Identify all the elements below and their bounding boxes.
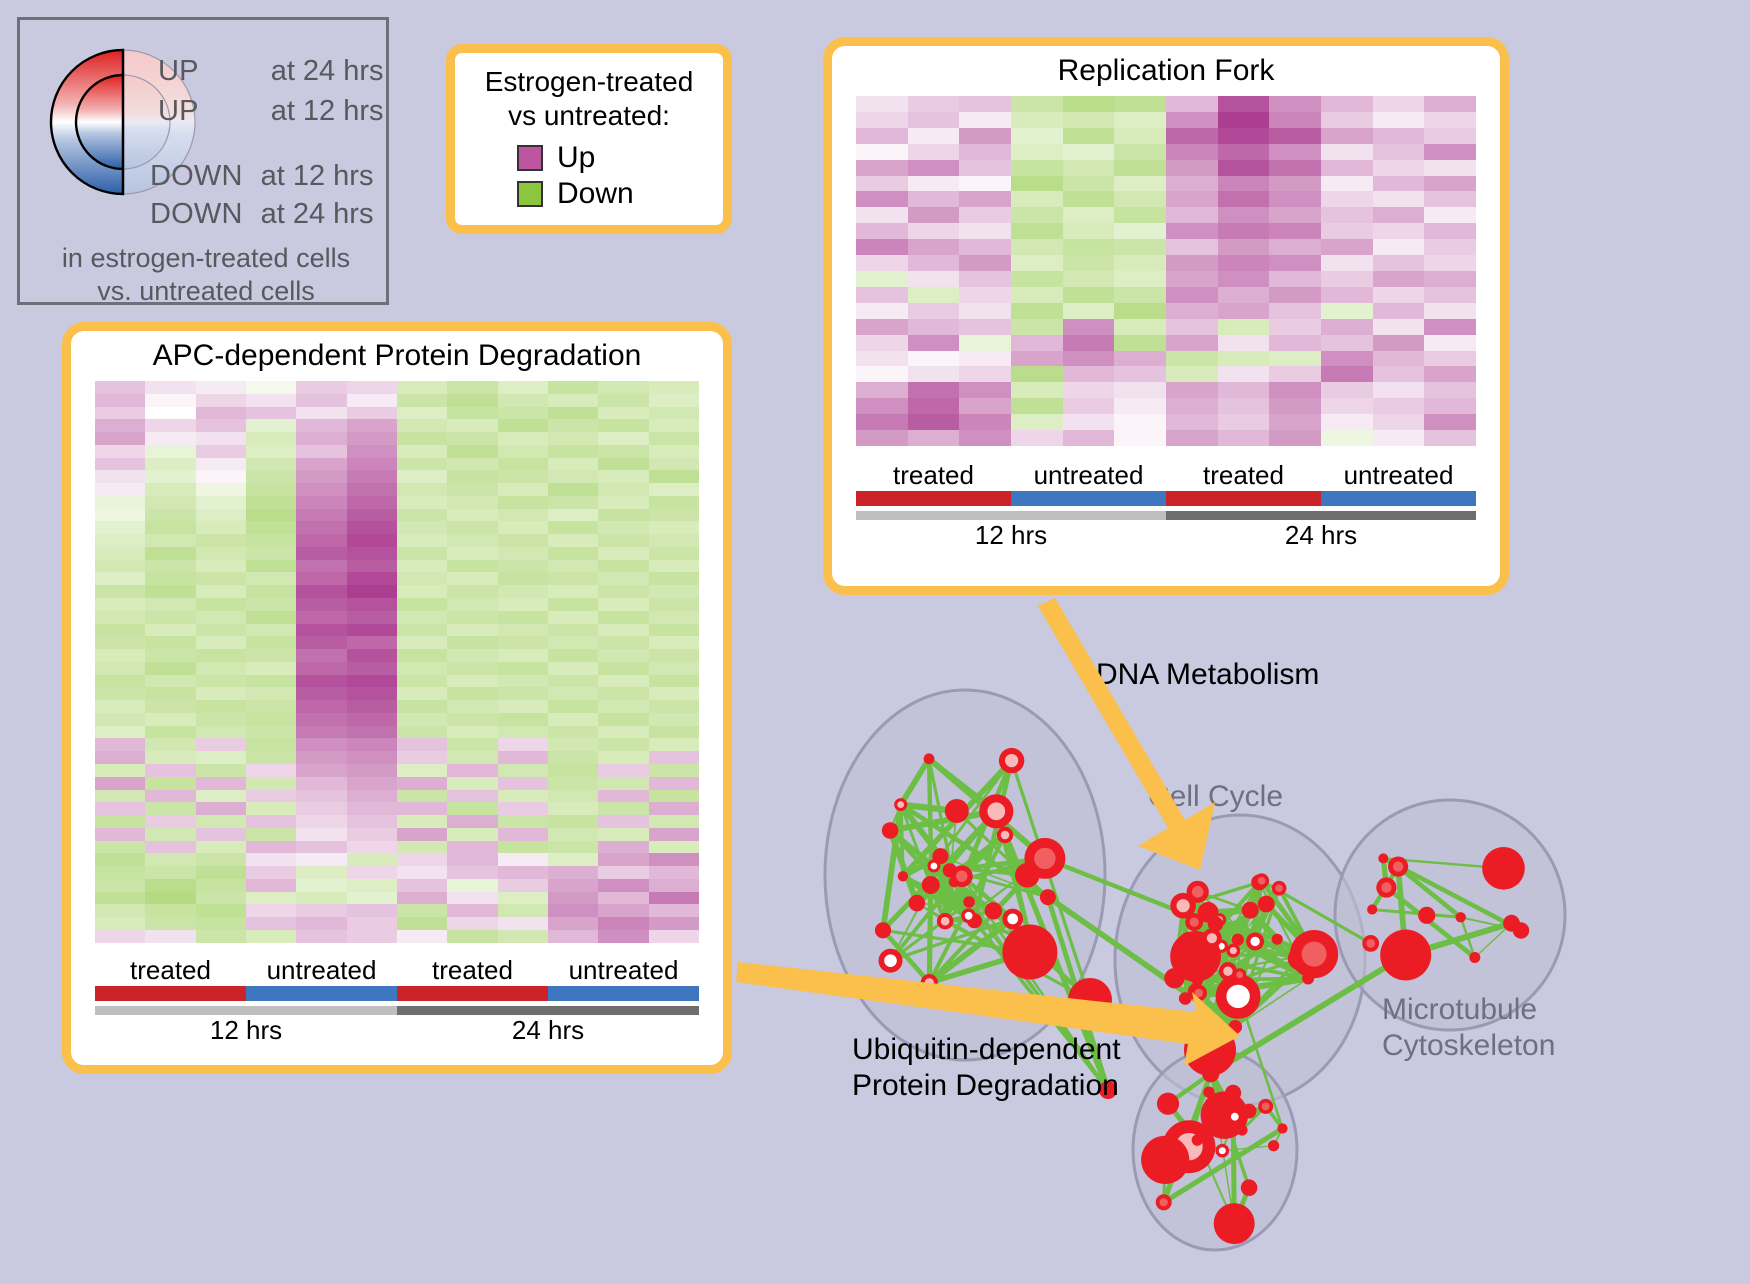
heatmap-cell	[196, 917, 246, 930]
heatmap-cell	[598, 470, 648, 483]
network-node[interactable]	[945, 799, 969, 823]
heatmap-cell	[1269, 319, 1321, 335]
heatmap-cell	[598, 572, 648, 585]
heatmap-cell	[95, 611, 145, 624]
network-node[interactable]	[1002, 925, 1057, 980]
network-node[interactable]	[1380, 930, 1431, 981]
heatmap-cell	[296, 930, 346, 943]
heatmap-cell	[246, 547, 296, 560]
network-node[interactable]	[1040, 889, 1056, 905]
down-swatch-icon	[517, 181, 543, 207]
heatmap-row	[95, 419, 699, 432]
network-node[interactable]	[1203, 1087, 1214, 1098]
network-node[interactable]	[1192, 1134, 1203, 1145]
network-node[interactable]	[1268, 1140, 1279, 1151]
node-inner-fill	[1226, 985, 1249, 1008]
heatmap-cell	[1011, 366, 1063, 382]
panel-replication-fork: Replication Fork treateduntreatedtreated…	[823, 37, 1509, 595]
heatmap-cell	[246, 636, 296, 649]
heatmap-cell	[959, 112, 1011, 128]
network-node[interactable]	[898, 871, 908, 881]
heatmap-cell	[649, 879, 699, 892]
heatmap-cell	[145, 917, 195, 930]
heatmap-cell	[1321, 144, 1373, 160]
heatmap-cell	[397, 700, 447, 713]
heatmap-cell	[246, 828, 296, 841]
heatmap-cell	[296, 764, 346, 777]
heatmap-cell	[397, 930, 447, 943]
heatmap-cell	[397, 458, 447, 471]
network-node[interactable]	[1290, 930, 1338, 978]
network-node[interactable]	[979, 794, 1013, 828]
heatmap-cell	[196, 483, 246, 496]
heatmap-cell	[1321, 366, 1373, 382]
heatmap-cell	[1269, 128, 1321, 144]
heatmap-cell	[1114, 160, 1166, 176]
network-node[interactable]	[1367, 904, 1377, 914]
network-node[interactable]	[1272, 934, 1283, 945]
network-node[interactable]	[882, 822, 899, 839]
heatmap-cell	[856, 144, 908, 160]
heatmap-cell	[95, 866, 145, 879]
heatmap-cell	[196, 930, 246, 943]
heatmap-cell	[246, 611, 296, 624]
heatmap-cell	[548, 585, 598, 598]
heatmap-cell	[548, 917, 598, 930]
heatmap-cell	[598, 917, 648, 930]
heatmap-cell	[598, 853, 648, 866]
heatmap-cell	[397, 777, 447, 790]
network-node[interactable]	[1227, 1109, 1242, 1124]
network-node[interactable]	[1254, 873, 1269, 888]
ubiquitin-line-1: Ubiquitin-dependent	[852, 1032, 1121, 1068]
network-node[interactable]	[1237, 1125, 1248, 1136]
heatmap-row	[856, 303, 1476, 319]
heatmap-cell	[1166, 271, 1218, 287]
heatmap-cell	[1011, 398, 1063, 414]
heatmap-cell	[246, 509, 296, 522]
heatmap-cell	[1373, 414, 1425, 430]
heatmap-cell	[649, 534, 699, 547]
group-color-segment	[548, 986, 699, 1001]
heatmap-cell	[447, 892, 497, 905]
time-color-segment	[1166, 511, 1476, 520]
heatmap-cell	[908, 144, 960, 160]
heatmap-cell	[246, 726, 296, 739]
heatmap-cell	[196, 432, 246, 445]
heatmap-cell	[498, 879, 548, 892]
heatmap-cell	[1269, 303, 1321, 319]
network-node[interactable]	[1156, 1194, 1172, 1210]
heatmap-cell	[95, 841, 145, 854]
heatmap-row	[856, 96, 1476, 112]
group-color-segment	[397, 986, 548, 1001]
network-node[interactable]	[1226, 944, 1240, 958]
heatmap-cell	[1321, 382, 1373, 398]
colorwheel-caption: in estrogen-treated cells vs. untreated …	[20, 242, 392, 308]
network-node[interactable]	[1214, 1203, 1255, 1244]
heatmap-cell	[498, 394, 548, 407]
heatmap-cell	[95, 777, 145, 790]
heatmap-cell	[347, 445, 397, 458]
heatmap-cell	[548, 700, 598, 713]
network-node[interactable]	[1378, 853, 1388, 863]
node-inner-fill	[1160, 1198, 1168, 1206]
network-node[interactable]	[1272, 881, 1287, 896]
network-node[interactable]	[1242, 902, 1259, 919]
network-node[interactable]	[1216, 1144, 1230, 1158]
wheel-time-label: at 24 hrs	[271, 55, 384, 88]
heatmap-cell	[856, 191, 908, 207]
heatmap-cell	[1166, 319, 1218, 335]
network-node[interactable]	[963, 896, 975, 908]
heatmap-cell	[95, 713, 145, 726]
heatmap-cell	[908, 398, 960, 414]
heatmap-cell	[1063, 319, 1115, 335]
heatmap-cell	[649, 675, 699, 688]
heatmap-cell	[959, 319, 1011, 335]
heatmap-cell	[498, 764, 548, 777]
network-node[interactable]	[1228, 1020, 1242, 1034]
heatmap-cell	[649, 611, 699, 624]
network-node[interactable]	[1242, 1104, 1257, 1119]
heatmap-cell	[1166, 176, 1218, 192]
heatmap-cell	[447, 815, 497, 828]
heatmap-row	[95, 547, 699, 560]
wheel-row-up-24: UP at 24 hrs	[158, 55, 384, 88]
cluster-label-cell-cycle: Cell Cycle	[1148, 780, 1283, 814]
heatmap-cell	[856, 351, 908, 367]
heatmap-cell	[397, 764, 447, 777]
heatmap-cell	[1373, 351, 1425, 367]
heatmap-cell	[447, 432, 497, 445]
heatmap-cell	[856, 112, 908, 128]
network-node[interactable]	[1418, 907, 1435, 924]
heatmap-cell	[196, 572, 246, 585]
heatmap-cell	[649, 509, 699, 522]
heatmap-row	[95, 790, 699, 803]
heatmap-cell	[347, 828, 397, 841]
node-inner-fill	[1034, 848, 1055, 869]
heatmap-cell	[1373, 239, 1425, 255]
network-node[interactable]	[1233, 968, 1246, 981]
heatmap-cell	[347, 458, 397, 471]
heatmap-cell	[959, 239, 1011, 255]
network-node[interactable]	[1362, 935, 1379, 952]
heatmap-cell	[95, 534, 145, 547]
legend-title-line-2: vs untreated:	[455, 99, 723, 133]
network-node[interactable]	[961, 908, 976, 923]
heatmap-cell	[1424, 271, 1476, 287]
heatmap-cell	[196, 675, 246, 688]
network-node[interactable]	[1202, 928, 1222, 948]
heatmap-row	[95, 560, 699, 573]
heatmap-cell	[1166, 191, 1218, 207]
heatmap-cell	[498, 649, 548, 662]
heatmap-cell	[145, 815, 195, 828]
heatmap-cell	[959, 128, 1011, 144]
heatmap-cell	[95, 879, 145, 892]
heatmap-cell	[246, 687, 296, 700]
heatmap-cell	[856, 335, 908, 351]
network-node[interactable]	[1024, 838, 1065, 879]
heatmap-cell	[598, 777, 648, 790]
heatmap-cell	[145, 790, 195, 803]
heatmap-cell	[548, 636, 598, 649]
heatmap-cell	[1218, 112, 1270, 128]
heatmap-row	[856, 112, 1476, 128]
network-node[interactable]	[922, 876, 940, 894]
heatmap-cell	[196, 700, 246, 713]
heatmap-cell	[397, 585, 447, 598]
heatmap-cell	[598, 892, 648, 905]
network-node[interactable]	[1376, 877, 1396, 897]
heatmap-cell	[145, 458, 195, 471]
heatmap-cell	[296, 713, 346, 726]
heatmap-cell	[347, 751, 397, 764]
heatmap-cell	[1269, 176, 1321, 192]
heatmap-cell	[397, 904, 447, 917]
heatmap-row	[856, 223, 1476, 239]
heatmap-cell	[1114, 223, 1166, 239]
heatmap-cell	[649, 560, 699, 573]
heatmap-cell	[548, 790, 598, 803]
heatmap-cell	[95, 419, 145, 432]
heatmap-cell	[548, 828, 598, 841]
heatmap-row	[95, 458, 699, 471]
heatmap-cell	[196, 445, 246, 458]
heatmap-cell	[447, 407, 497, 420]
heatmap-cell	[246, 419, 296, 432]
heatmap-cell	[1321, 287, 1373, 303]
heatmap-cell	[95, 662, 145, 675]
heatmap-row	[856, 255, 1476, 271]
network-node[interactable]	[1241, 1179, 1258, 1196]
heatmap-cell	[548, 419, 598, 432]
heatmap-cell	[498, 381, 548, 394]
heatmap-cell	[347, 521, 397, 534]
network-node[interactable]	[1141, 1136, 1189, 1184]
heatmap-cell	[856, 271, 908, 287]
network-node[interactable]	[1456, 912, 1466, 922]
network-node[interactable]	[921, 974, 938, 991]
heatmap-cell	[598, 547, 648, 560]
network-node[interactable]	[999, 748, 1024, 773]
heatmap-cell	[598, 687, 648, 700]
heatmap-cell	[347, 777, 397, 790]
heatmap-cell	[1114, 255, 1166, 271]
heatmap-cell	[1218, 319, 1270, 335]
heatmap-cell	[498, 547, 548, 560]
heatmap-cell	[1269, 351, 1321, 367]
network-node[interactable]	[1258, 896, 1275, 913]
heatmap-cell	[856, 223, 908, 239]
heatmap-cell	[1011, 255, 1063, 271]
heatmap-cell	[397, 675, 447, 688]
heatmap-cell	[447, 381, 497, 394]
heatmap-cell	[649, 432, 699, 445]
heatmap-cell	[246, 866, 296, 879]
time-label: 24 hrs	[1166, 520, 1476, 551]
heatmap-row	[95, 598, 699, 611]
heatmap-cell	[196, 687, 246, 700]
heatmap-cell	[95, 802, 145, 815]
heatmap-cell	[908, 207, 960, 223]
network-node[interactable]	[1179, 992, 1192, 1005]
heatmap-cell	[649, 751, 699, 764]
heatmap-cell	[1166, 287, 1218, 303]
heatmap-cell	[1373, 223, 1425, 239]
heatmap-cell	[397, 509, 447, 522]
heatmap-row	[95, 509, 699, 522]
cluster-label-ubiquitin: Ubiquitin-dependent Protein Degradation	[852, 1032, 1121, 1104]
heatmap-cell	[1114, 366, 1166, 382]
network-node[interactable]	[943, 863, 957, 877]
heatmap-cell	[196, 904, 246, 917]
heatmap-cell	[397, 445, 447, 458]
heatmap-cell	[145, 509, 195, 522]
heatmap-cell	[296, 879, 346, 892]
group-label: treated	[856, 460, 1011, 491]
heatmap-row	[856, 239, 1476, 255]
network-node[interactable]	[927, 860, 940, 873]
heatmap-cell	[1166, 335, 1218, 351]
heatmap-cell	[246, 407, 296, 420]
network-node[interactable]	[1157, 1093, 1179, 1115]
heatmap-cell	[1166, 239, 1218, 255]
heatmap-cell	[145, 700, 195, 713]
heatmap-cell	[1424, 96, 1476, 112]
heatmap-cell	[397, 828, 447, 841]
network-node[interactable]	[894, 798, 907, 811]
heatmap-cell	[498, 521, 548, 534]
heatmap-cell	[959, 271, 1011, 287]
heatmap-cell	[347, 879, 397, 892]
heatmap-cell	[447, 483, 497, 496]
heatmap-row	[95, 521, 699, 534]
group-label: treated	[1166, 460, 1321, 491]
heatmap-cell	[649, 828, 699, 841]
heatmap-cell	[397, 534, 447, 547]
heatmap-cell	[347, 624, 397, 637]
heatmap-cell	[548, 815, 598, 828]
network-node[interactable]	[1068, 978, 1112, 1022]
network-node[interactable]	[1513, 922, 1529, 938]
heatmap-cell	[447, 394, 497, 407]
network-node[interactable]	[909, 895, 926, 912]
heatmap-cell	[196, 509, 246, 522]
heatmap-cell	[1218, 414, 1270, 430]
network-node[interactable]	[924, 753, 935, 764]
heatmap-cell	[856, 430, 908, 446]
heatmap-cell	[1218, 176, 1270, 192]
heatmap-cell	[1321, 414, 1373, 430]
heatmap-cell	[145, 470, 195, 483]
heatmap-cell	[145, 394, 195, 407]
heatmap-cell	[598, 496, 648, 509]
heatmap-cell	[1114, 414, 1166, 430]
heatmap-cell	[598, 419, 648, 432]
network-node[interactable]	[1002, 909, 1023, 930]
heatmap-cell	[1321, 335, 1373, 351]
network-svg	[790, 620, 1750, 1279]
heatmap-cell	[1011, 191, 1063, 207]
heatmap-cell	[598, 445, 648, 458]
network-node[interactable]	[1190, 985, 1207, 1002]
heatmap-cell	[548, 407, 598, 420]
wheel-time-label: at 24 hrs	[261, 198, 374, 231]
network-node[interactable]	[1185, 913, 1203, 931]
heatmap-cell	[908, 287, 960, 303]
network-node[interactable]	[879, 949, 903, 973]
network-node[interactable]	[1388, 857, 1408, 877]
heatmap-cell	[1269, 160, 1321, 176]
network-node[interactable]	[997, 827, 1013, 843]
heatmap-cell	[1011, 351, 1063, 367]
network-node[interactable]	[1482, 847, 1525, 890]
heatmap-cell	[447, 560, 497, 573]
heatmap-cell	[397, 572, 447, 585]
heatmap-cell	[1011, 160, 1063, 176]
heatmap-cell	[447, 534, 497, 547]
heatmap-cell	[447, 509, 497, 522]
network-node[interactable]	[1208, 916, 1223, 931]
network-node[interactable]	[1184, 1024, 1236, 1076]
node-inner-fill	[987, 802, 1005, 820]
heatmap-cell	[1166, 366, 1218, 382]
heatmap-cell	[447, 738, 497, 751]
heatmap-cell	[1218, 96, 1270, 112]
heatmap-cell	[856, 96, 908, 112]
network-node[interactable]	[1258, 1099, 1273, 1114]
heatmap-cell	[908, 239, 960, 255]
heatmap-cell	[95, 751, 145, 764]
heatmap-cell	[498, 470, 548, 483]
heatmap-cell	[548, 662, 598, 675]
heatmap-cell	[856, 176, 908, 192]
heatmap-cell	[1114, 191, 1166, 207]
node-inner-fill	[1001, 831, 1010, 840]
heatmap-cell	[1114, 96, 1166, 112]
heatmap-cell	[908, 351, 960, 367]
heatmap-cell	[196, 624, 246, 637]
heatmap-row	[95, 751, 699, 764]
heatmap-cell	[1373, 335, 1425, 351]
heatmap-cell	[296, 458, 346, 471]
heatmap-cell	[598, 394, 648, 407]
heatmap-axis-apc: treateduntreatedtreateduntreated 12 hrs2…	[95, 955, 699, 1046]
heatmap-cell	[145, 853, 195, 866]
heatmap-row	[856, 287, 1476, 303]
network-edge	[929, 885, 930, 983]
network-node[interactable]	[1246, 932, 1264, 950]
network-node[interactable]	[1469, 952, 1480, 963]
heatmap-row	[856, 366, 1476, 382]
network-node[interactable]	[1277, 1123, 1287, 1133]
legend-item-label: Up	[557, 141, 595, 175]
heatmap-cell	[1114, 430, 1166, 446]
heatmap-cell	[548, 496, 598, 509]
heatmap-cell	[498, 432, 548, 445]
heatmap-cell	[296, 866, 346, 879]
heatmap-cell	[1269, 430, 1321, 446]
network-node[interactable]	[937, 913, 953, 929]
heatmap-cell	[447, 726, 497, 739]
network-node[interactable]	[875, 922, 891, 938]
heatmap-cell	[1269, 382, 1321, 398]
network-node[interactable]	[985, 902, 1002, 919]
heatmap-replication-fork	[856, 96, 1476, 446]
